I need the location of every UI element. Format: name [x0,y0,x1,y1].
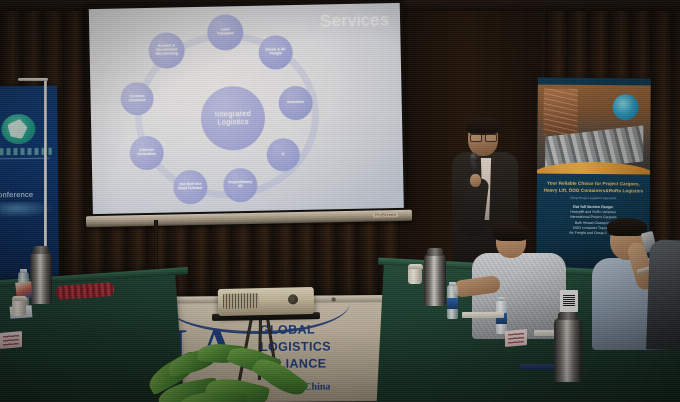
attendee-front [472,226,566,336]
name-card [505,329,527,347]
thermos-flask [424,254,446,306]
tea-cup [12,300,26,316]
thermos-lid [558,312,578,320]
name-card-text [3,334,19,345]
bubble-label: LandTransport [217,28,234,36]
banner-right-headline: Your Reliable Choice for Project Cargoes… [541,181,646,195]
service-list-title: Our full Service Range: [541,204,646,209]
attendee-front-hair [493,222,529,241]
company-logo-icon [612,94,638,120]
speaker-hand [470,174,481,187]
screen-brand-label: ProScreen [373,212,398,217]
glasses-icon [470,133,497,139]
bottle-cap [498,297,505,301]
screen-surface: Services Integrated Logistics LandTransp… [89,3,404,214]
banner-right-photo [537,85,651,170]
thermos-flask [554,318,582,382]
bottle-cap [449,282,456,286]
bubble-label: Insurance [287,101,304,105]
projector-vent [223,293,259,309]
banner-left-conference: onference [0,86,59,281]
name-card [0,331,22,349]
projection-screen: Services Integrated Logistics LandTransp… [86,0,408,237]
attendee-right-partial [646,239,680,350]
bottle-cap [20,269,27,273]
crane-image [543,89,577,135]
bubble-label: Project/Heavylift [228,181,252,189]
grommet-icon [332,297,336,301]
slide-title: Services [320,10,390,31]
bubble-label: One Belt OneRoad Follower [178,183,203,191]
banner-left-divider [0,158,50,160]
bubble-label: IT [282,153,285,157]
tea-cup-lid [408,264,423,269]
qr-stand-card [560,290,578,312]
name-card-text [508,332,524,343]
tea-cup [408,268,422,284]
bubble-label: Bonded &Non-bondedWarehousing [155,45,178,57]
banner-left-pole-top [18,78,48,81]
banner-left-text: onference [0,190,56,200]
slide-content: Services Integrated Logistics LandTransp… [89,3,404,214]
tea-cup-lid [12,296,27,301]
bubble-one-belt-one-road: One Belt OneRoad Follower [173,170,208,205]
projector-lens-icon [288,294,298,304]
screenshot-root: onference Services Integrated Logistics … [0,0,680,402]
microphone-icon [470,153,478,161]
thermos-flask [30,252,52,304]
attendee-front-shirt [472,253,566,339]
bubble-label: CustomsClearance [128,95,145,103]
projector [218,287,315,316]
water-bottle [447,285,458,319]
bubble-label: Ocean & AirFreight [265,48,286,56]
notepad [462,312,504,318]
potted-plant [140,340,320,402]
bubble-label: X-BorderRelocation [137,149,156,157]
banner-right-subtitle: China Project Logistics Specialist [541,195,646,200]
bubble-label: Integrated Logistics [203,109,263,127]
thermos-lid [33,246,49,254]
bubble-project-heavy-lift: Project/Heavylift [223,168,258,203]
thermos-lid [427,248,443,256]
